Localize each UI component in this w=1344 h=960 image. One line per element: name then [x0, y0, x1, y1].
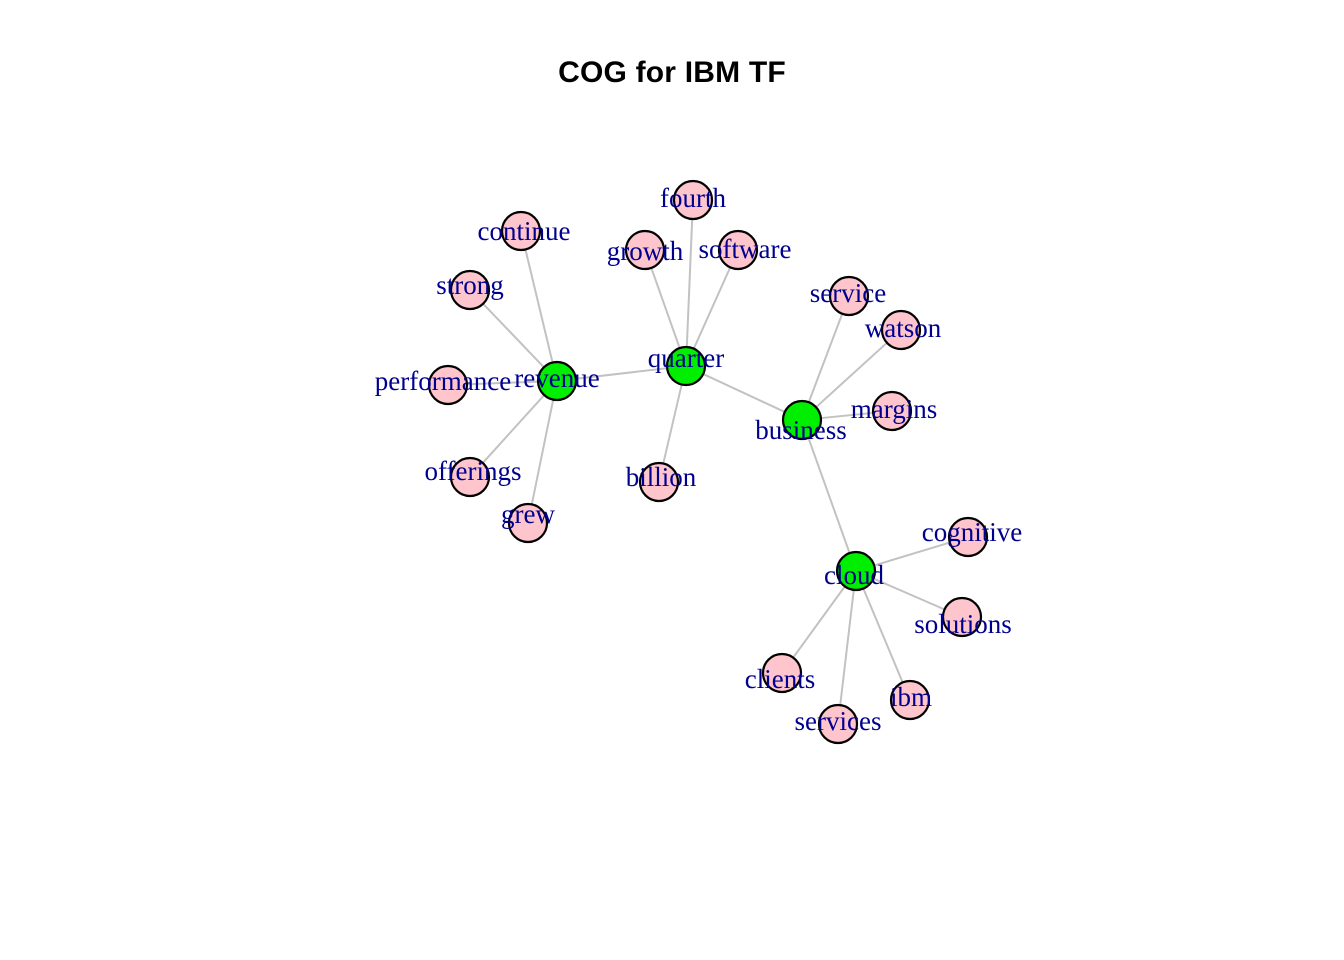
node-label-ibm: ibm	[890, 682, 932, 712]
node-label-billion: billion	[626, 462, 697, 492]
graph-edge	[808, 312, 843, 404]
graph-edge	[525, 248, 553, 365]
node-label-watson: watson	[865, 313, 942, 343]
graph-edge	[663, 383, 682, 466]
graph-edge	[840, 588, 854, 707]
network-graph: revenuequarterbusinesscloudfourthgrowths…	[0, 0, 1344, 960]
graph-edge	[808, 436, 851, 555]
labels-group: revenuequarterbusinesscloudfourthgrowths…	[375, 183, 1022, 736]
node-label-quarter: quarter	[648, 343, 724, 373]
graph-edge	[531, 398, 553, 507]
node-label-cognitive: cognitive	[922, 517, 1022, 547]
node-label-offerings: offerings	[425, 456, 522, 486]
node-label-services: services	[795, 706, 882, 736]
node-label-solutions: solutions	[914, 609, 1012, 639]
graph-edge	[863, 587, 904, 685]
graph-edge	[687, 217, 693, 349]
graph-edge	[651, 266, 681, 350]
graph-edge	[792, 585, 846, 659]
node-label-software: software	[699, 234, 792, 264]
graph-edge	[482, 302, 546, 368]
graph-edge	[481, 394, 545, 465]
graph-edge	[693, 266, 731, 351]
node-label-business: business	[755, 415, 847, 445]
node-label-revenue: revenue	[514, 363, 599, 393]
graph-edge	[701, 373, 786, 413]
node-label-margins: margins	[851, 394, 938, 424]
node-label-growth: growth	[607, 236, 684, 266]
node-label-continue: continue	[478, 216, 571, 246]
node-label-clients: clients	[745, 664, 815, 694]
node-label-service: service	[810, 278, 886, 308]
graph-canvas: COG for IBM TF revenuequarterbusinessclo…	[0, 0, 1344, 960]
node-label-strong: strong	[436, 270, 504, 300]
node-label-performance: performance	[375, 366, 511, 396]
node-label-grew: grew	[501, 499, 555, 529]
node-label-fourth: fourth	[660, 183, 726, 213]
node-label-cloud: cloud	[824, 560, 884, 590]
